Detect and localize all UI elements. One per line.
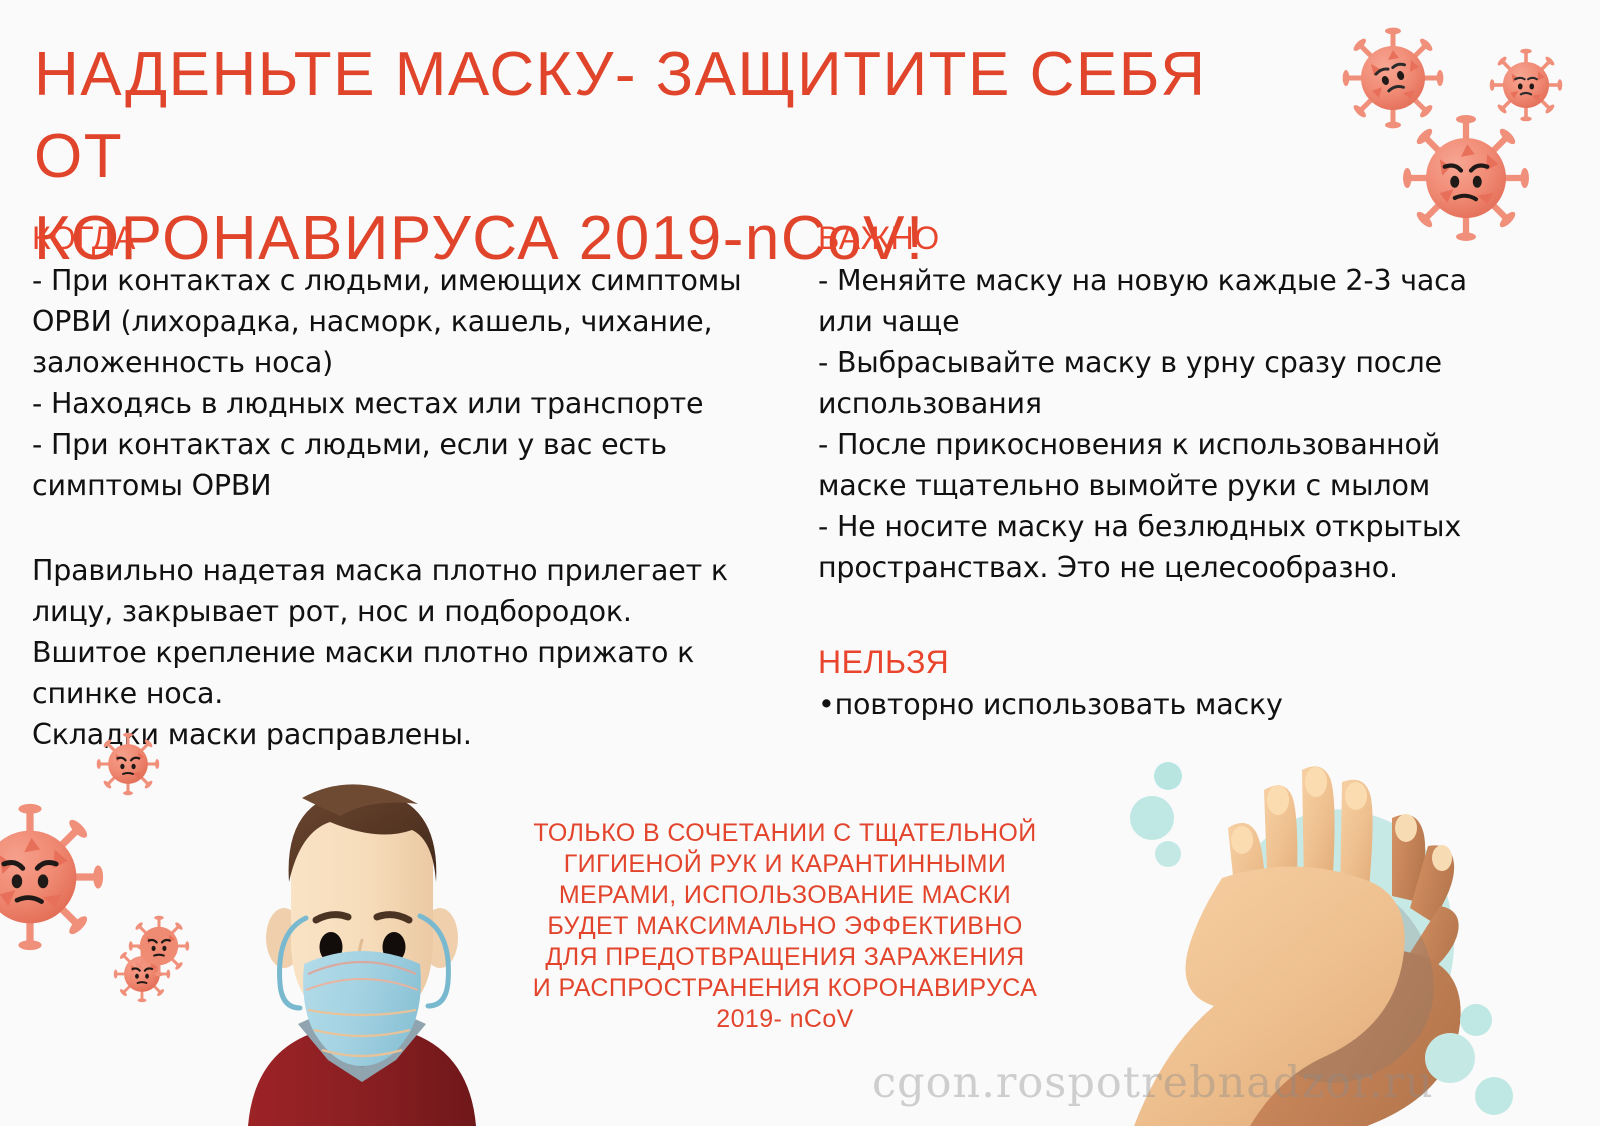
bottom-caption: ТОЛЬКО В СОЧЕТАНИИ С ТЩАТЕЛЬНОЙ ГИГИЕНОЙ… — [500, 818, 1070, 1035]
virus-icon — [1343, 28, 1444, 129]
handwashing-illustration — [1076, 730, 1600, 1126]
bubble — [1460, 1004, 1492, 1036]
virus-cluster-top-right — [1300, 18, 1600, 234]
virus-icon — [97, 733, 159, 795]
left-column: КОГДА - При контактах с людьми, имеющих … — [32, 218, 792, 755]
kogda-list: - При контактах с людьми, имеющих симпто… — [32, 260, 792, 506]
fingernail — [1267, 785, 1289, 815]
virus-icon — [0, 804, 103, 950]
fingernail — [1305, 767, 1327, 797]
section-heading-kogda: КОГДА — [32, 218, 792, 258]
nelzya-list: •повторно использовать маску — [818, 684, 1518, 725]
section-heading-vazhno: ВАЖНО — [818, 218, 1518, 258]
vazhno-list: - Меняйте маску на новую каждые 2-3 часа… — [818, 260, 1518, 588]
bubble — [1475, 1077, 1513, 1115]
man-wearing-mask-illustration — [196, 742, 526, 1126]
bubble — [1155, 841, 1181, 867]
bubble — [1425, 1033, 1475, 1083]
section-heading-nelzya: НЕЛЬЗЯ — [818, 642, 1518, 682]
virus-icon — [129, 916, 189, 976]
virus-icon — [1490, 49, 1563, 122]
bubble — [1130, 796, 1174, 840]
fingernail — [1231, 826, 1253, 854]
spacer — [818, 588, 1518, 642]
fingernail — [1345, 782, 1367, 810]
spacer — [32, 506, 792, 550]
right-column: ВАЖНО - Меняйте маску на новую каждые 2-… — [818, 218, 1518, 725]
bubble — [1154, 762, 1182, 790]
poster-root: НАДЕНЬТЕ МАСКУ- ЗАЩИТИТЕ СЕБЯ ОТ КОРОНАВ… — [0, 0, 1600, 1126]
